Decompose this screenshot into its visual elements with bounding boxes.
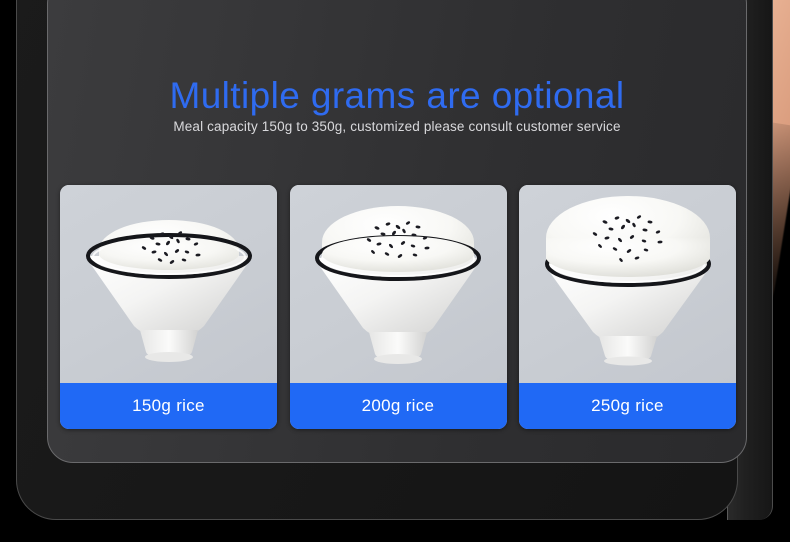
rice-option-label: 200g rice (290, 383, 507, 429)
rice-option-label: 250g rice (519, 383, 736, 429)
content-panel: Multiple grams are optional Meal capacit… (47, 0, 747, 463)
rice-option-card[interactable]: 200g rice (290, 185, 507, 429)
rice-bowl-image (60, 185, 277, 383)
page-title: Multiple grams are optional (48, 75, 746, 117)
page-subtitle: Meal capacity 150g to 350g, customized p… (48, 119, 746, 134)
scene-backdrop: Multiple grams are optional Meal capacit… (0, 0, 790, 542)
rice-option-label: 150g rice (60, 383, 277, 429)
rice-option-card[interactable]: 150g rice (60, 185, 277, 429)
rice-bowl-image (290, 185, 507, 383)
rice-option-card[interactable]: 250g rice (519, 185, 736, 429)
bowl-icon (533, 194, 723, 371)
bowl-icon (303, 194, 493, 371)
rice-option-list: 150g rice (60, 185, 736, 429)
rice-bowl-image (519, 185, 736, 383)
bowl-icon (74, 194, 264, 371)
